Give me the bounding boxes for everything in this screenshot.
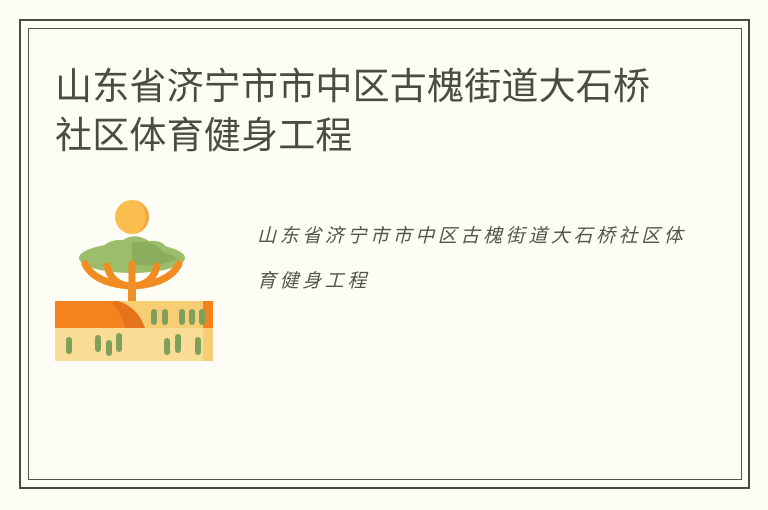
- media-row: 山东省济宁市市中区古槐街道大石桥社区体育健身工程: [55, 196, 722, 361]
- sun-icon: [115, 200, 149, 234]
- savanna-landscape-illustration: [55, 196, 213, 361]
- page-title: 山东省济宁市市中区古槐街道大石桥社区体育健身工程: [55, 62, 675, 160]
- card-content: 山东省济宁市市中区古槐街道大石桥社区体育健身工程: [28, 28, 742, 480]
- mesa-right-strip-lower: [203, 328, 213, 361]
- ground-lower-band: [55, 328, 213, 361]
- certificate-card: 山东省济宁市市中区古槐街道大石桥社区体育健身工程: [0, 0, 768, 510]
- body-text: 山东省济宁市市中区古槐街道大石桥社区体育健身工程: [257, 214, 687, 304]
